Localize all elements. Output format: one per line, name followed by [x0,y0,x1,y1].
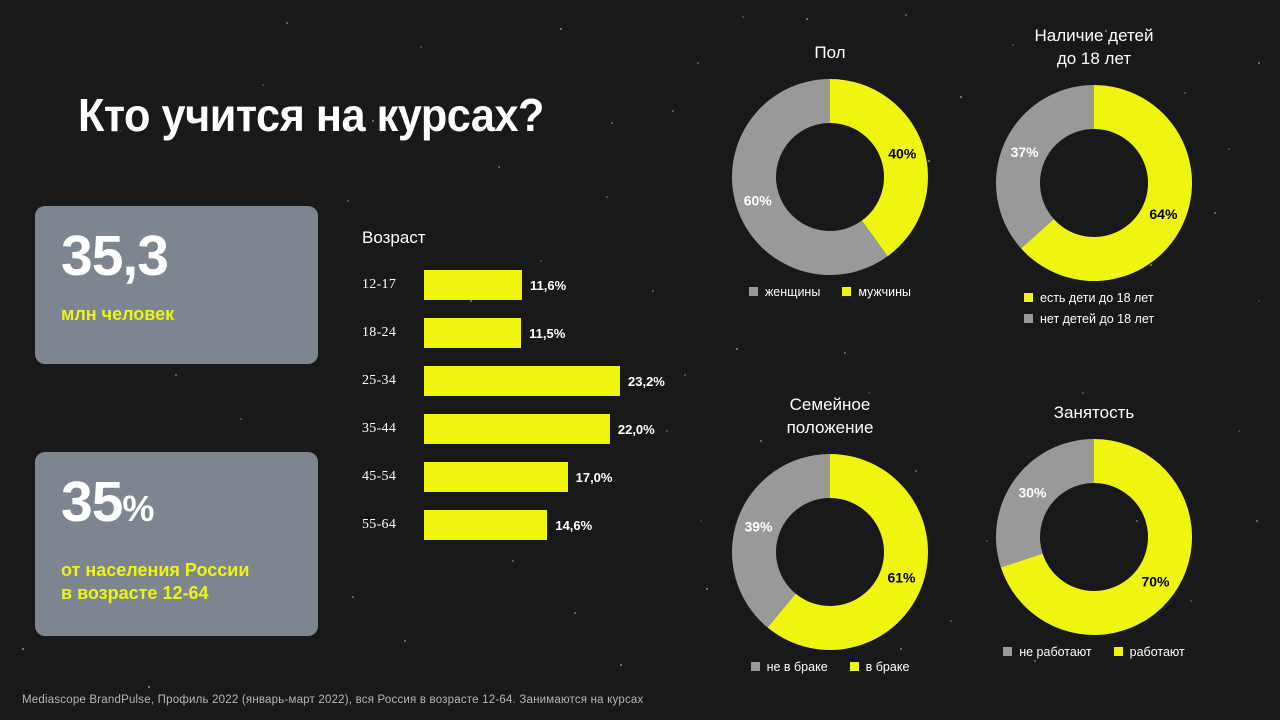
star-speck [175,374,177,376]
star-speck [706,588,708,590]
legend-swatch-icon [1003,647,1012,656]
bar-value-label: 23,2% [628,374,665,389]
kpi-value-share: 35% [61,474,292,531]
age-chart-title: Возраст [362,228,692,248]
star-speck [1034,660,1036,662]
donut-slice-value-label: 37% [1011,144,1040,160]
legend-swatch-icon [751,662,760,671]
donut-slice-value-label: 70% [1141,574,1170,590]
bar-category-label: 55-64 [362,517,424,533]
donut-graphic: 61%39% [732,454,928,650]
kpi-card-people: 35,3 млн человек [35,206,318,364]
star-speck [611,122,613,124]
star-speck [22,648,24,650]
kpi-caption-share: от населения Россиив возрасте 12-64 [61,559,292,604]
star-speck [262,84,264,86]
star-speck [148,686,150,688]
donut-slice-value-label: 30% [1018,484,1047,500]
bar-fill [424,318,521,348]
legend-item-label: нет детей до 18 лет [1040,312,1154,326]
donut-legend: женщинымужчины [716,285,944,299]
donut-chart-employment: Занятость70%30%не работаютработают [980,402,1208,659]
star-speck [560,28,562,30]
donut-slice [996,85,1094,248]
bar-category-label: 12-17 [362,277,424,293]
star-speck [420,46,422,48]
star-speck [620,664,622,666]
donut-slice-value-label: 39% [744,518,773,534]
legend-item-label: работают [1130,645,1185,659]
star-speck [1238,430,1240,432]
legend-swatch-icon [749,287,758,296]
legend-item-label: не в браке [767,660,828,674]
legend-item[interactable]: не в браке [751,660,828,674]
donut-chart-marital: Семейное положение61%39%не в бракев брак… [716,394,944,674]
source-footnote: Mediascope BrandPulse, Профиль 2022 (янв… [22,694,643,706]
star-speck [960,96,962,98]
bar-fill [424,510,547,540]
legend-item-label: мужчины [858,285,911,299]
bar-track: 17,0% [424,462,612,492]
star-speck [498,166,500,168]
bar-category-label: 25-34 [362,373,424,389]
legend-swatch-icon [842,287,851,296]
bar-fill [424,414,610,444]
bar-fill [424,270,522,300]
star-speck [950,620,952,622]
legend-item[interactable]: мужчины [842,285,911,299]
kpi-caption-line: в возрасте 12-64 [61,582,292,605]
donut-slice-value-label: 61% [887,570,916,586]
legend-item-label: есть дети до 18 лет [1040,291,1154,305]
donut-graphic: 70%30% [996,439,1192,635]
bar-row: 35-4422,0% [362,414,692,444]
star-speck [1082,392,1084,394]
bar-category-label: 18-24 [362,325,424,341]
kpi-caption-people: млн человек [61,303,292,326]
donut-legend: не работаютработают [980,645,1208,659]
bar-category-label: 45-54 [362,469,424,485]
donut-title: Пол [716,42,944,65]
bar-track: 14,6% [424,510,592,540]
star-speck [1258,62,1260,64]
star-speck [286,22,288,24]
star-speck [736,348,738,350]
bar-row: 45-5417,0% [362,462,692,492]
star-speck [1214,212,1216,214]
star-speck [905,14,907,16]
kpi-value-people: 35,3 [61,228,292,285]
donut-title: Занятость [980,402,1208,425]
kpi-percent-sign: % [122,488,153,529]
star-speck [844,352,846,354]
bar-track: 23,2% [424,366,665,396]
star-speck [347,200,349,202]
legend-swatch-icon [1024,314,1033,323]
legend-swatch-icon [1114,647,1123,656]
legend-item[interactable]: работают [1114,645,1185,659]
donut-slice-value-label: 64% [1149,206,1178,222]
bar-row: 55-6414,6% [362,510,692,540]
legend-item[interactable]: нет детей до 18 лет [1024,312,1154,326]
star-speck [700,520,702,522]
donut-slice [996,439,1094,567]
legend-item[interactable]: не работают [1003,645,1091,659]
star-speck [742,16,744,18]
star-speck [574,612,576,614]
legend-item[interactable]: есть дети до 18 лет [1024,291,1154,305]
star-speck [404,640,406,642]
donut-title: Наличие детей до 18 лет [980,25,1208,71]
age-bar-chart: Возраст 12-1711,6%18-2411,5%25-3423,2%35… [362,228,692,558]
bar-value-label: 14,6% [555,518,592,533]
bar-fill [424,366,620,396]
age-bar-rows: 12-1711,6%18-2411,5%25-3423,2%35-4422,0%… [362,270,692,540]
legend-item-label: не работают [1019,645,1091,659]
donut-chart-gender: Пол40%60%женщинымужчины [716,42,944,299]
star-speck [1258,300,1260,302]
star-speck [1228,148,1230,150]
kpi-number: 35,3 [61,224,168,288]
bar-track: 22,0% [424,414,655,444]
bar-value-label: 11,5% [529,326,565,341]
bar-value-label: 22,0% [618,422,655,437]
legend-swatch-icon [850,662,859,671]
infographic-slide: Кто учится на курсах? 35,3 млн человек 3… [0,0,1280,720]
legend-swatch-icon [1024,293,1033,302]
star-speck [240,418,242,420]
star-speck [806,18,808,20]
kpi-number: 35 [61,470,122,534]
donut-slice [732,454,830,628]
star-speck [352,596,354,598]
star-speck [672,110,674,112]
legend-item[interactable]: женщины [749,285,820,299]
bar-row: 18-2411,5% [362,318,692,348]
star-speck [697,62,699,64]
legend-item-label: женщины [765,285,820,299]
bar-value-label: 11,6% [530,278,566,293]
star-speck [1256,520,1258,522]
kpi-card-share: 35% от населения Россиив возрасте 12-64 [35,452,318,636]
donut-legend: не в бракев браке [716,660,944,674]
bar-track: 11,5% [424,318,565,348]
donut-legend: есть дети до 18 летнет детей до 18 лет [980,291,1208,326]
bar-track: 11,6% [424,270,566,300]
bar-row: 25-3423,2% [362,366,692,396]
page-title: Кто учится на курсах? [78,88,544,142]
kpi-caption-line: от населения России [61,559,292,582]
bar-row: 12-1711,6% [362,270,692,300]
donut-title: Семейное положение [716,394,944,440]
bar-fill [424,462,568,492]
donut-chart-children: Наличие детей до 18 лет64%37%есть дети д… [980,25,1208,326]
bar-category-label: 35-44 [362,421,424,437]
bar-value-label: 17,0% [576,470,613,485]
legend-item-label: в браке [866,660,910,674]
donut-graphic: 40%60% [732,79,928,275]
legend-item[interactable]: в браке [850,660,910,674]
star-speck [606,196,608,198]
donut-graphic: 64%37% [996,85,1192,281]
star-speck [512,560,514,562]
donut-slice-value-label: 60% [744,192,773,208]
donut-slice-value-label: 40% [888,145,917,161]
